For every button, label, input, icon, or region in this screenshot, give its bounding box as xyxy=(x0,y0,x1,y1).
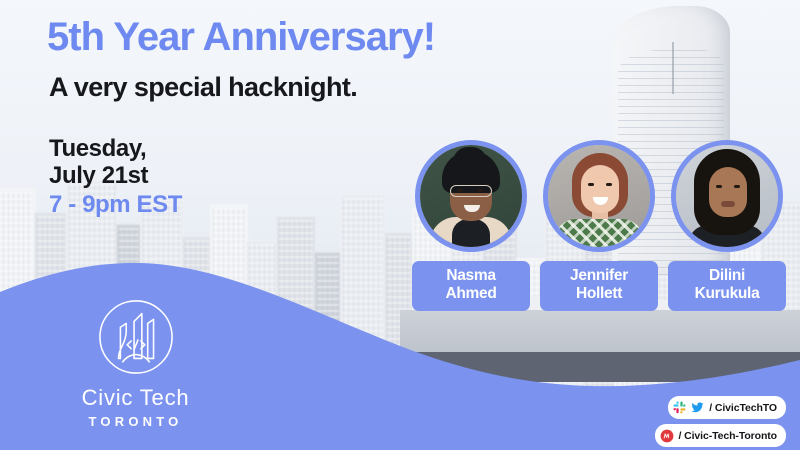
speaker-avatar-nasma-ahmed xyxy=(415,140,527,252)
speaker-card-dilini-kurukula: Dilini Kurukula xyxy=(668,140,786,310)
speaker-nameplate: Jennifer Hollett xyxy=(540,261,658,311)
speaker-first-name: Nasma xyxy=(414,267,528,285)
speaker-first-name: Jennifer xyxy=(542,267,656,285)
speaker-last-name: Ahmed xyxy=(414,285,528,303)
speaker-first-name: Dilini xyxy=(670,267,784,285)
social-handle: / CivicTechTO xyxy=(709,402,777,414)
meetup-icon xyxy=(660,429,674,443)
speaker-nameplate: Nasma Ahmed xyxy=(412,261,530,311)
logo-city: TORONTO xyxy=(63,414,208,429)
civic-tech-toronto-logo-icon xyxy=(97,298,175,376)
event-poster: 5th Year Anniversary! A very special hac… xyxy=(0,0,800,450)
speaker-last-name: Hollett xyxy=(542,285,656,303)
speaker-last-name: Kurukula xyxy=(670,285,784,303)
speaker-list: Nasma Ahmed Jennifer Hollett xyxy=(412,140,788,310)
subtitle: A very special hacknight. xyxy=(49,72,357,103)
speaker-nameplate: Dilini Kurukula xyxy=(668,261,786,311)
event-date: July 21st xyxy=(49,163,182,190)
slack-icon xyxy=(673,401,686,414)
event-datetime: Tuesday, July 21st 7 - 9pm EST xyxy=(49,136,182,219)
social-handle: / Civic-Tech-Toronto xyxy=(678,430,777,442)
speaker-avatar-jennifer-hollett xyxy=(543,140,655,252)
twitter-icon xyxy=(690,401,705,414)
speaker-avatar-dilini-kurukula xyxy=(671,140,783,252)
event-day: Tuesday, xyxy=(49,136,182,163)
event-time: 7 - 9pm EST xyxy=(49,192,182,219)
social-badge-meetup[interactable]: / Civic-Tech-Toronto xyxy=(655,424,786,447)
logo-name: Civic Tech xyxy=(63,385,208,411)
speaker-card-nasma-ahmed: Nasma Ahmed xyxy=(412,140,530,310)
brand-logo: Civic Tech TORONTO xyxy=(63,298,208,429)
speaker-card-jennifer-hollett: Jennifer Hollett xyxy=(540,140,658,310)
social-handles: / CivicTechTO / Civic-Tech-Toronto xyxy=(655,396,786,447)
page-title: 5th Year Anniversary! xyxy=(47,16,435,59)
social-badge-slack-twitter[interactable]: / CivicTechTO xyxy=(668,396,786,419)
